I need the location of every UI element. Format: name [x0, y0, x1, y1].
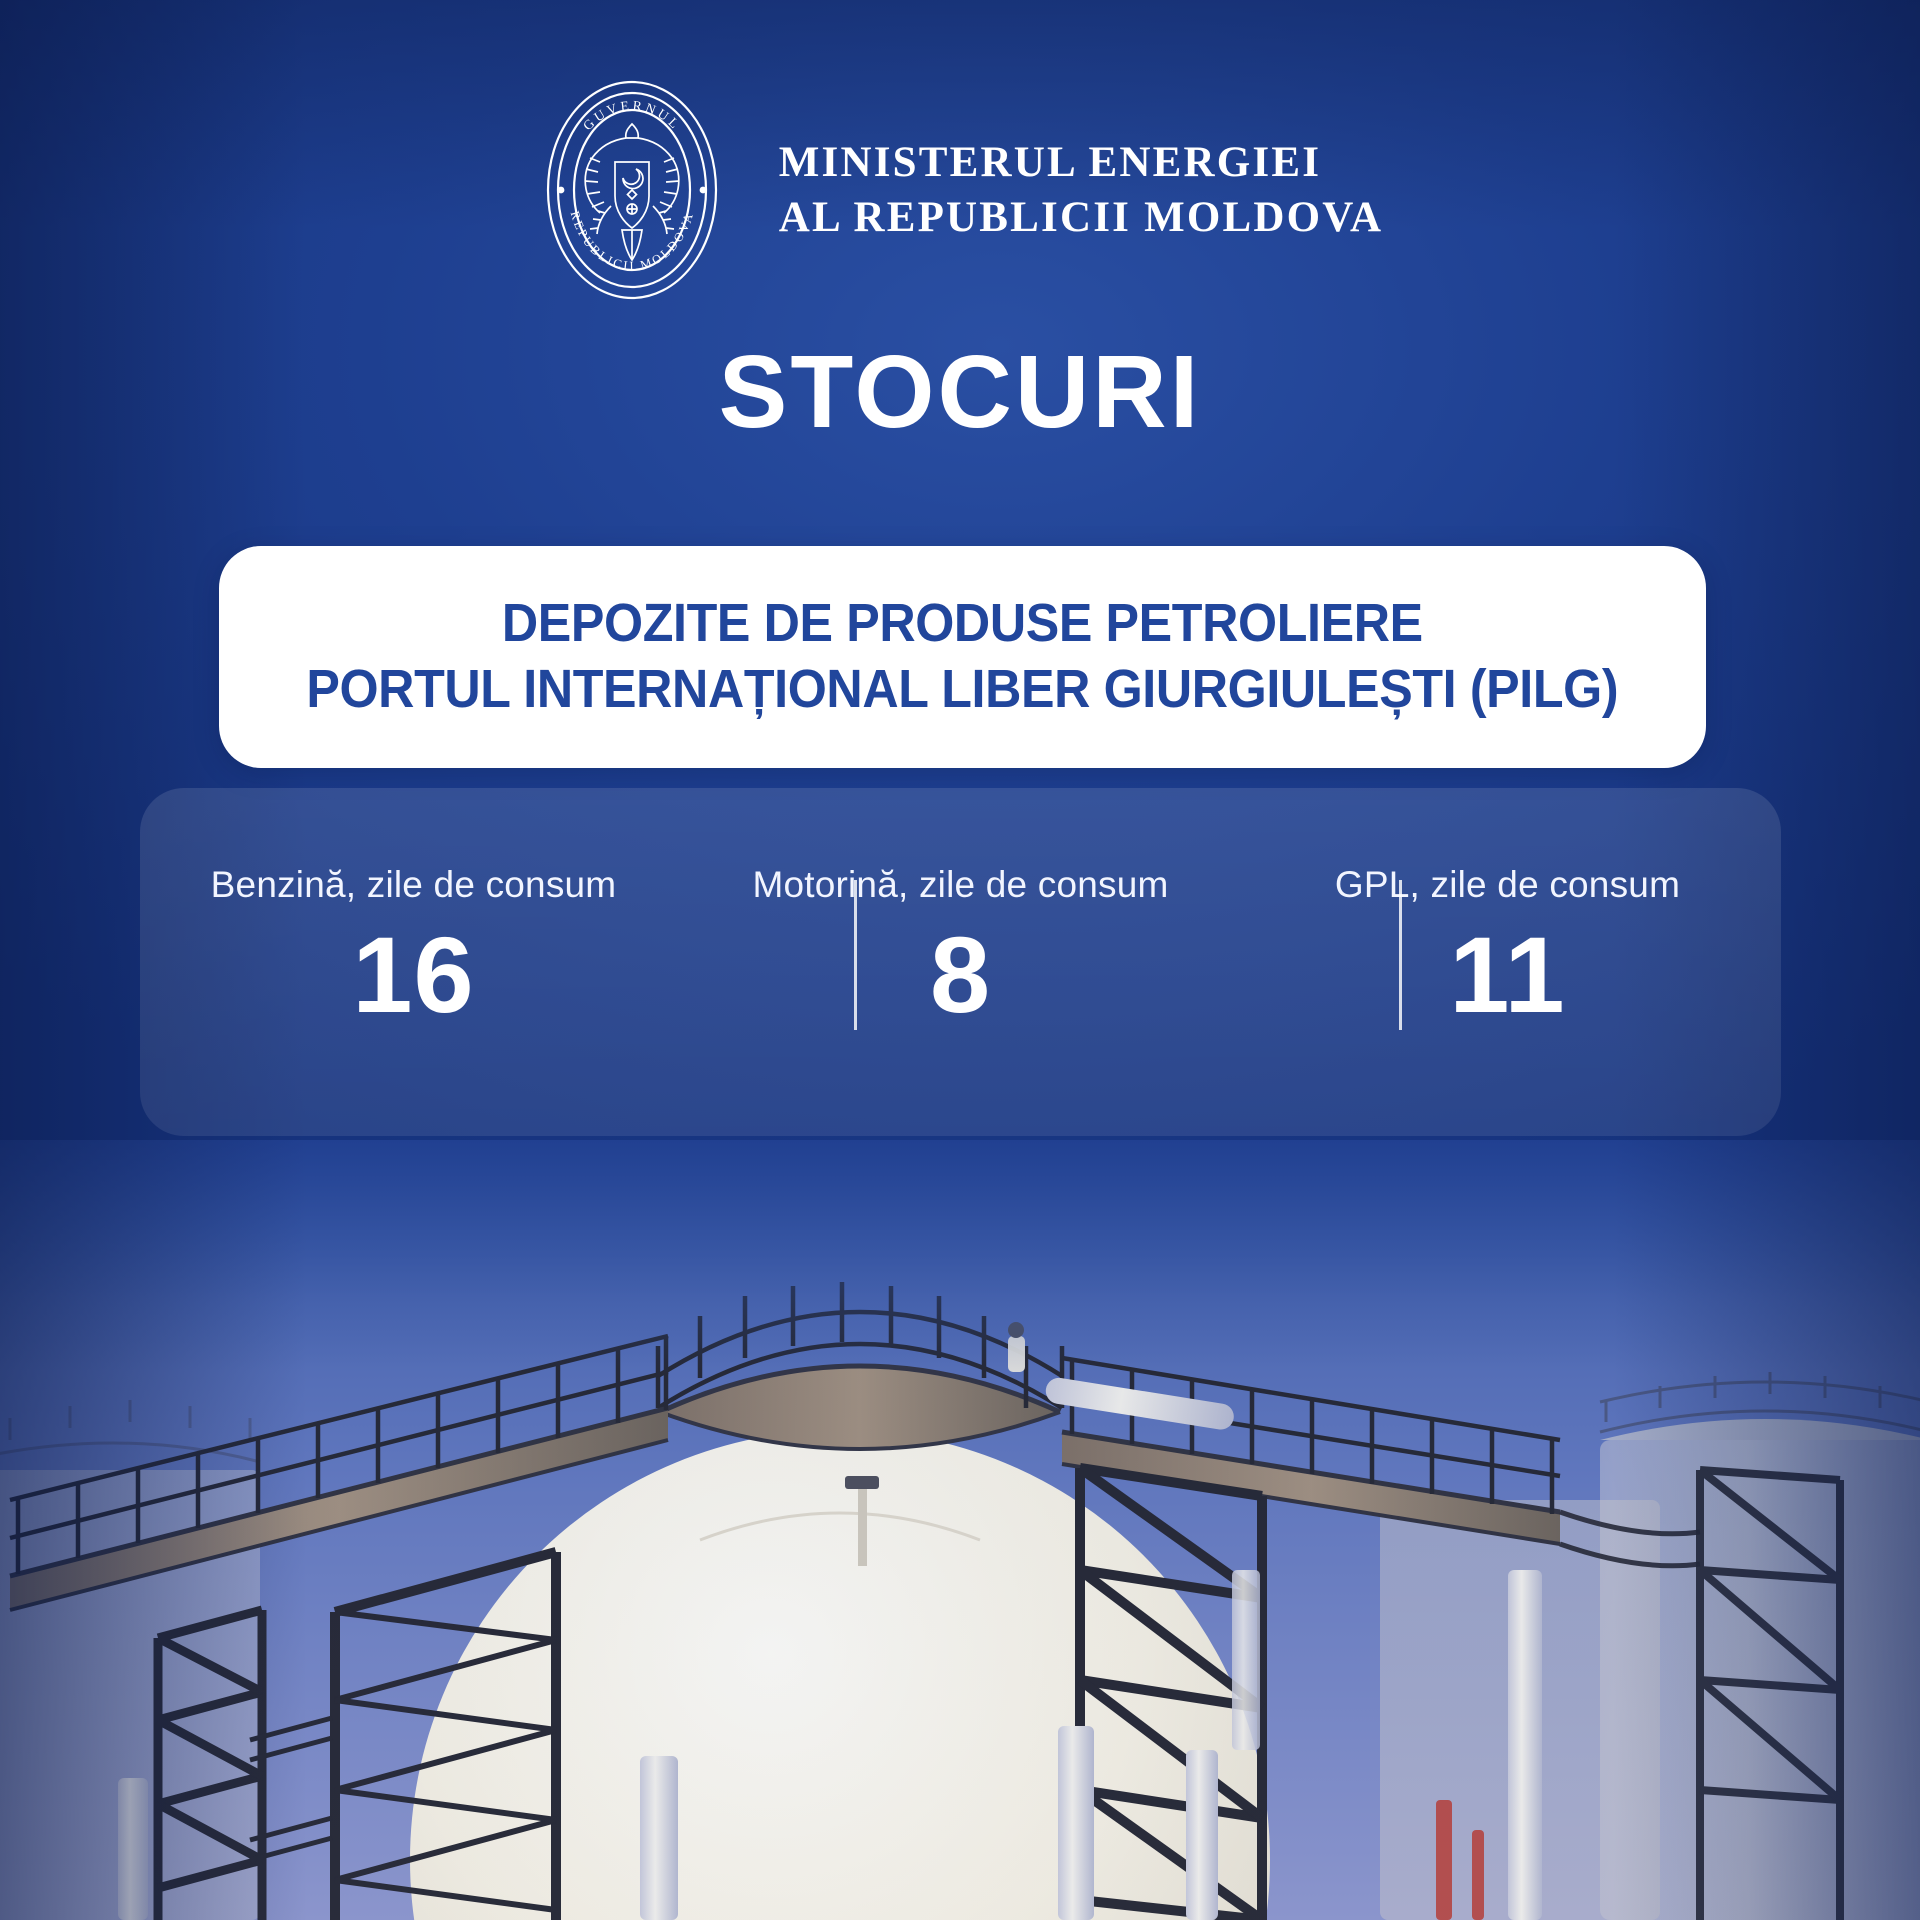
svg-text:GUVERNUL: GUVERNUL [580, 98, 684, 134]
lpg-storage-tanks-image [0, 1140, 1920, 1920]
facility-card-text: DEPOZITE DE PRODUSE PETROLIERE PORTUL IN… [307, 591, 1619, 723]
ministry-name: MINISTERUL ENERGIEI AL REPUBLICII MOLDOV… [779, 136, 1384, 244]
moldova-government-seal-icon: GUVERNUL REPUBLICII MOLDOVA [537, 78, 727, 303]
stat-value: 8 [930, 920, 991, 1030]
facility-card-line-1: DEPOZITE DE PRODUSE PETROLIERE [502, 593, 1423, 653]
stat-value: 16 [352, 920, 474, 1030]
facility-card: DEPOZITE DE PRODUSE PETROLIERE PORTUL IN… [219, 546, 1706, 768]
stats-panel: Benzină, zile de consum 16 Motorină, zil… [140, 788, 1781, 1136]
stat-benzina: Benzină, zile de consum 16 [140, 788, 687, 1030]
stat-divider [1399, 880, 1402, 1030]
ministry-line-1: MINISTERUL ENERGIEI [779, 136, 1384, 190]
facility-card-line-2: PORTUL INTERNAȚIONAL LIBER GIURGIULEȘTI … [307, 657, 1619, 723]
stat-label: GPL, zile de consum [1335, 864, 1680, 906]
stat-motorina: Motorină, zile de consum 8 [687, 788, 1234, 1030]
ministry-line-2: AL REPUBLICII MOLDOVA [779, 191, 1384, 245]
facility-photo [0, 1140, 1920, 1920]
stat-label: Benzină, zile de consum [211, 864, 617, 906]
header: GUVERNUL REPUBLICII MOLDOVA [0, 78, 1920, 303]
stat-divider [854, 880, 857, 1030]
infographic-poster: GUVERNUL REPUBLICII MOLDOVA [0, 0, 1920, 1920]
stat-label: Motorină, zile de consum [752, 864, 1168, 906]
stat-gpl: GPL, zile de consum 11 [1234, 788, 1781, 1030]
stat-value: 11 [1449, 920, 1565, 1030]
page-title: STOCURI [0, 340, 1920, 443]
